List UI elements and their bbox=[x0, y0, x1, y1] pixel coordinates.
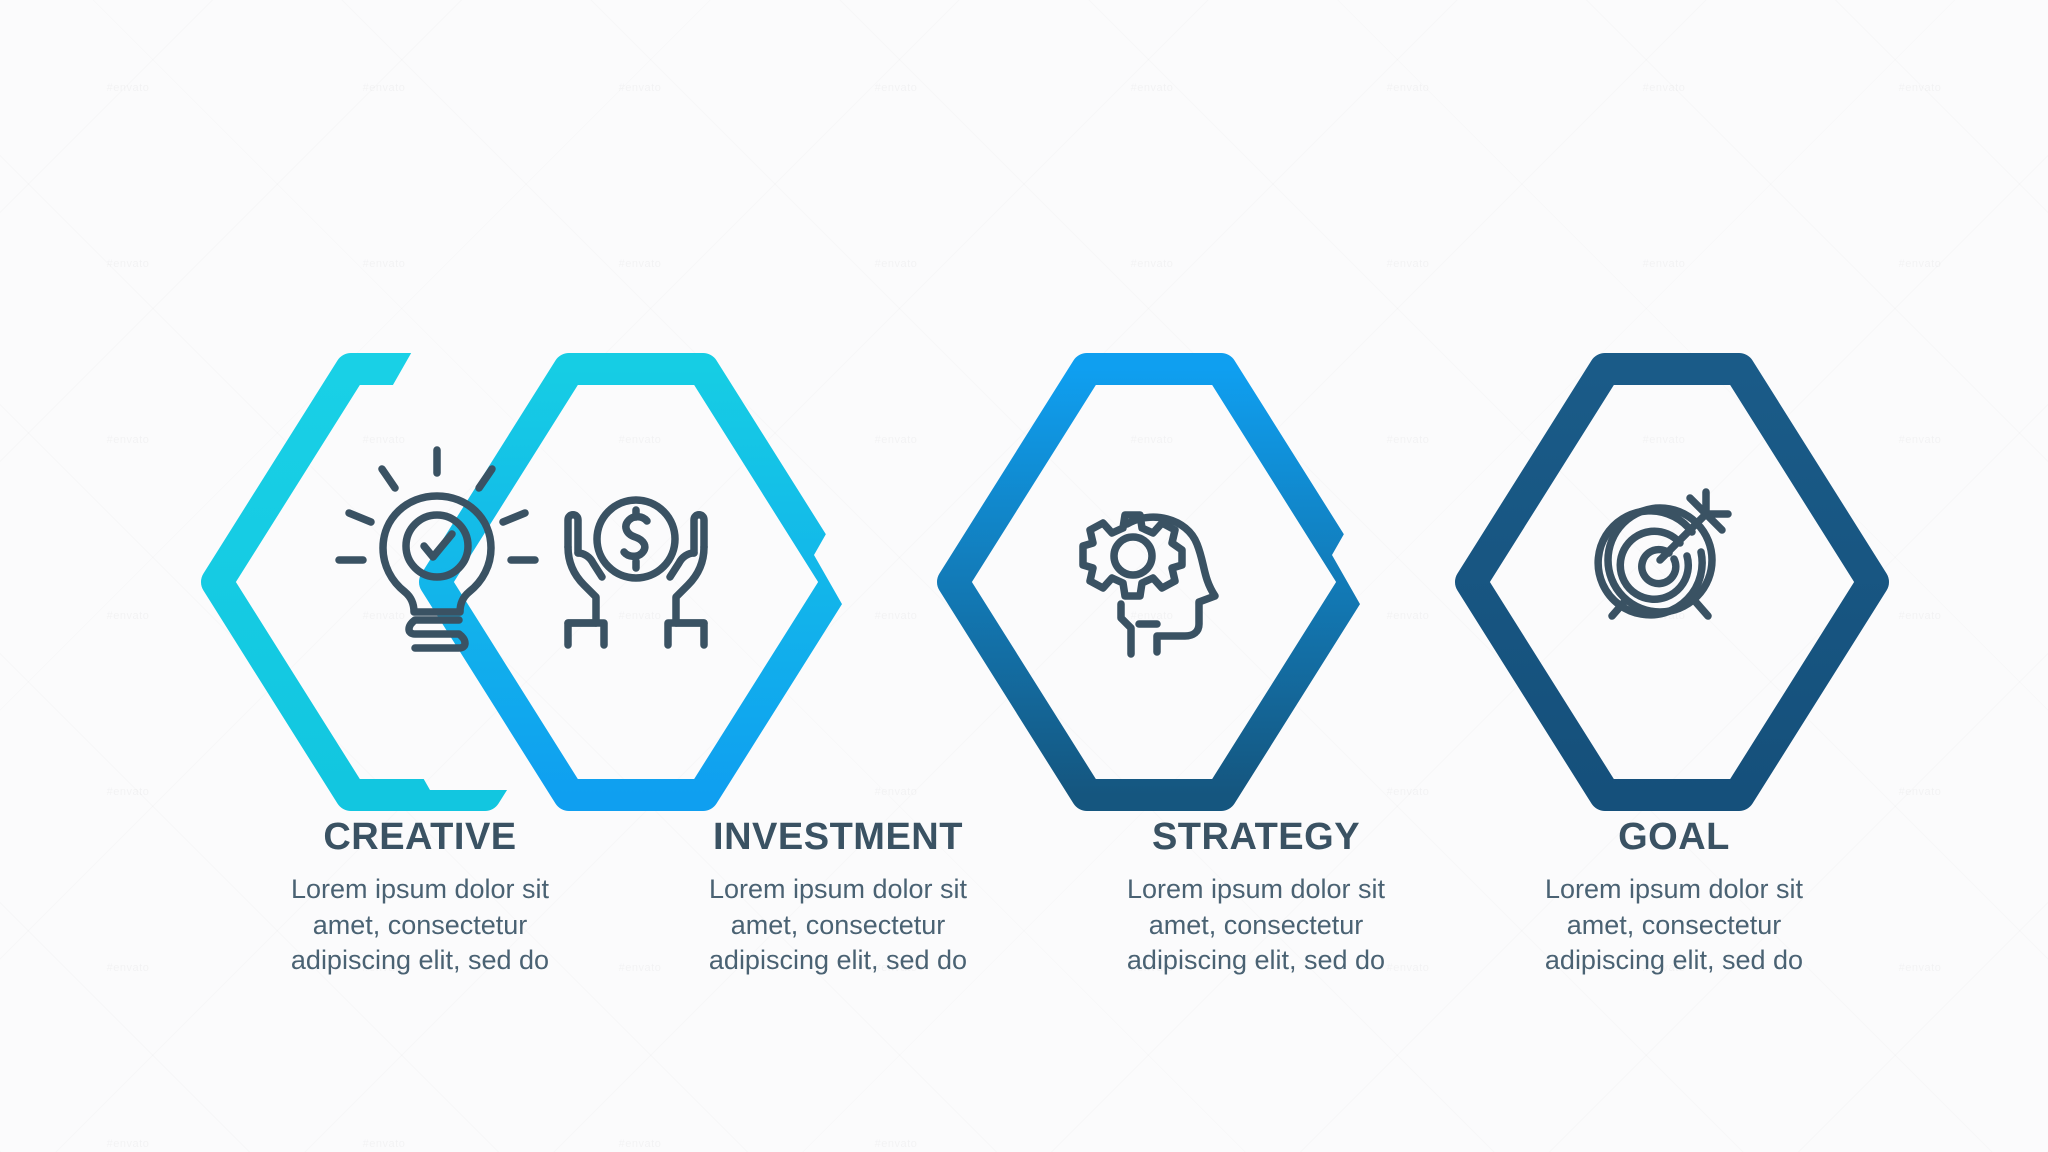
step-text-strategy: STRATEGY Lorem ipsum dolor sit amet, con… bbox=[1091, 818, 1421, 979]
step-description-creative: Lorem ipsum dolor sit amet, consectetur … bbox=[255, 872, 585, 979]
step-description-strategy: Lorem ipsum dolor sit amet, consectetur … bbox=[1091, 872, 1421, 979]
step-description-investment: Lorem ipsum dolor sit amet, consectetur … bbox=[673, 872, 1003, 979]
step-labels-group: CREATIVE Lorem ipsum dolor sit amet, con… bbox=[0, 0, 2048, 1152]
step-text-creative: CREATIVE Lorem ipsum dolor sit amet, con… bbox=[255, 818, 585, 979]
step-title-creative: CREATIVE bbox=[255, 818, 585, 858]
step-title-investment: INVESTMENT bbox=[673, 818, 1003, 858]
step-title-strategy: STRATEGY bbox=[1091, 818, 1421, 858]
hexagon-process-infographic: CREATIVE Lorem ipsum dolor sit amet, con… bbox=[0, 0, 2048, 1152]
step-title-goal: GOAL bbox=[1509, 818, 1839, 858]
step-description-goal: Lorem ipsum dolor sit amet, consectetur … bbox=[1509, 872, 1839, 979]
step-text-investment: INVESTMENT Lorem ipsum dolor sit amet, c… bbox=[673, 818, 1003, 979]
step-text-goal: GOAL Lorem ipsum dolor sit amet, consect… bbox=[1509, 818, 1839, 979]
